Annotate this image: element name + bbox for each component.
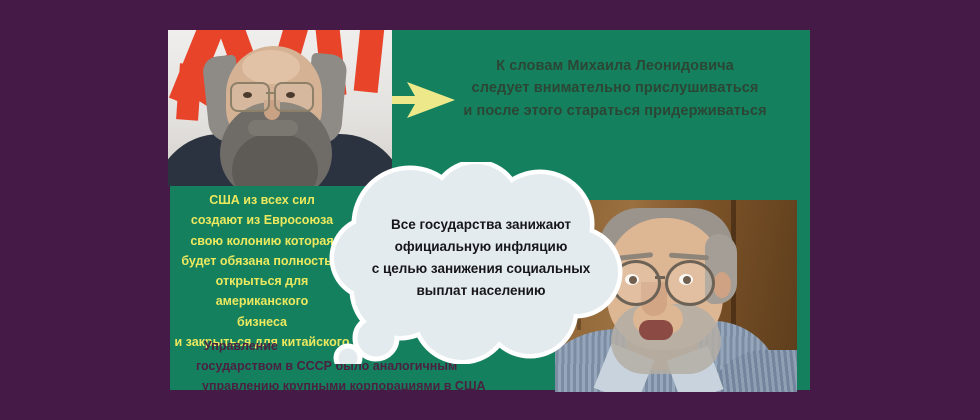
eyeglasses-right-lens xyxy=(665,260,715,306)
person-mustache xyxy=(248,120,298,136)
person-beard-lower xyxy=(232,134,318,186)
bubble-line-3: с целью занижения социальных xyxy=(358,258,604,280)
speech-bubble-text: Все государства занижают официальную инф… xyxy=(358,214,604,301)
bubble-line-2: официальную инфляцию xyxy=(358,236,604,258)
speech-bubble: Все государства занижают официальную инф… xyxy=(318,162,636,364)
headline-line-1: К словам Михаила Леонидовича xyxy=(430,55,800,77)
poster-canvas: К словам Михаила Леонидовича следует вни… xyxy=(0,0,980,420)
person-forehead xyxy=(242,50,300,84)
person-mouth xyxy=(639,320,673,340)
eyeglasses-bridge xyxy=(655,276,665,279)
person-ear xyxy=(713,272,731,298)
headline-text: К словам Михаила Леонидовича следует вни… xyxy=(430,55,800,122)
bubble-line-1: Все государства занижают xyxy=(358,214,604,236)
person-eye-right xyxy=(286,92,295,98)
person-eye-left xyxy=(243,92,252,98)
headline-line-3: и после этого стараться придерживаться xyxy=(430,100,800,122)
bubble-line-4: выплат населению xyxy=(358,280,604,302)
headline-line-2: следует внимательно прислушиваться xyxy=(430,77,800,99)
bottom-line-3: управлению крупными корпорациями в США xyxy=(196,377,536,397)
eyeglasses-bridge xyxy=(266,92,276,94)
eyeglasses-right-lens xyxy=(274,82,314,112)
